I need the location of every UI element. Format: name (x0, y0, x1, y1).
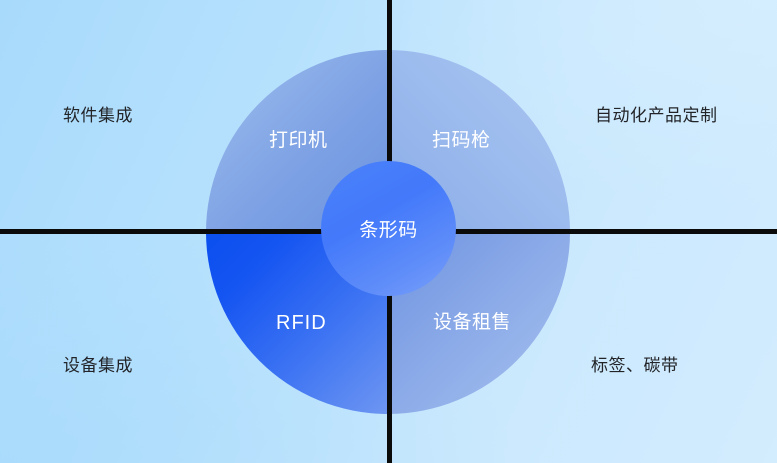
hub-label: 条形码 (359, 215, 418, 242)
wheel-label-scanner: 扫码枪 (432, 131, 491, 150)
outer-label-labels-ribbons: 标签、碳带 (591, 357, 679, 374)
outer-label-automation-customizing: 自动化产品定制 (595, 107, 718, 124)
wheel-label-rfid: RFID (276, 313, 327, 333)
wheel-label-printer: 打印机 (269, 131, 328, 150)
outer-label-device-integration: 设备集成 (63, 357, 133, 374)
hub-circle[interactable]: 条形码 (321, 161, 456, 296)
wheel-label-rental: 设备租售 (433, 313, 511, 332)
outer-label-software-integration: 软件集成 (63, 107, 133, 124)
diagram-canvas: 条形码 打印机 扫码枪 RFID 设备租售 软件集成 自动化产品定制 设备集成 … (0, 0, 777, 463)
